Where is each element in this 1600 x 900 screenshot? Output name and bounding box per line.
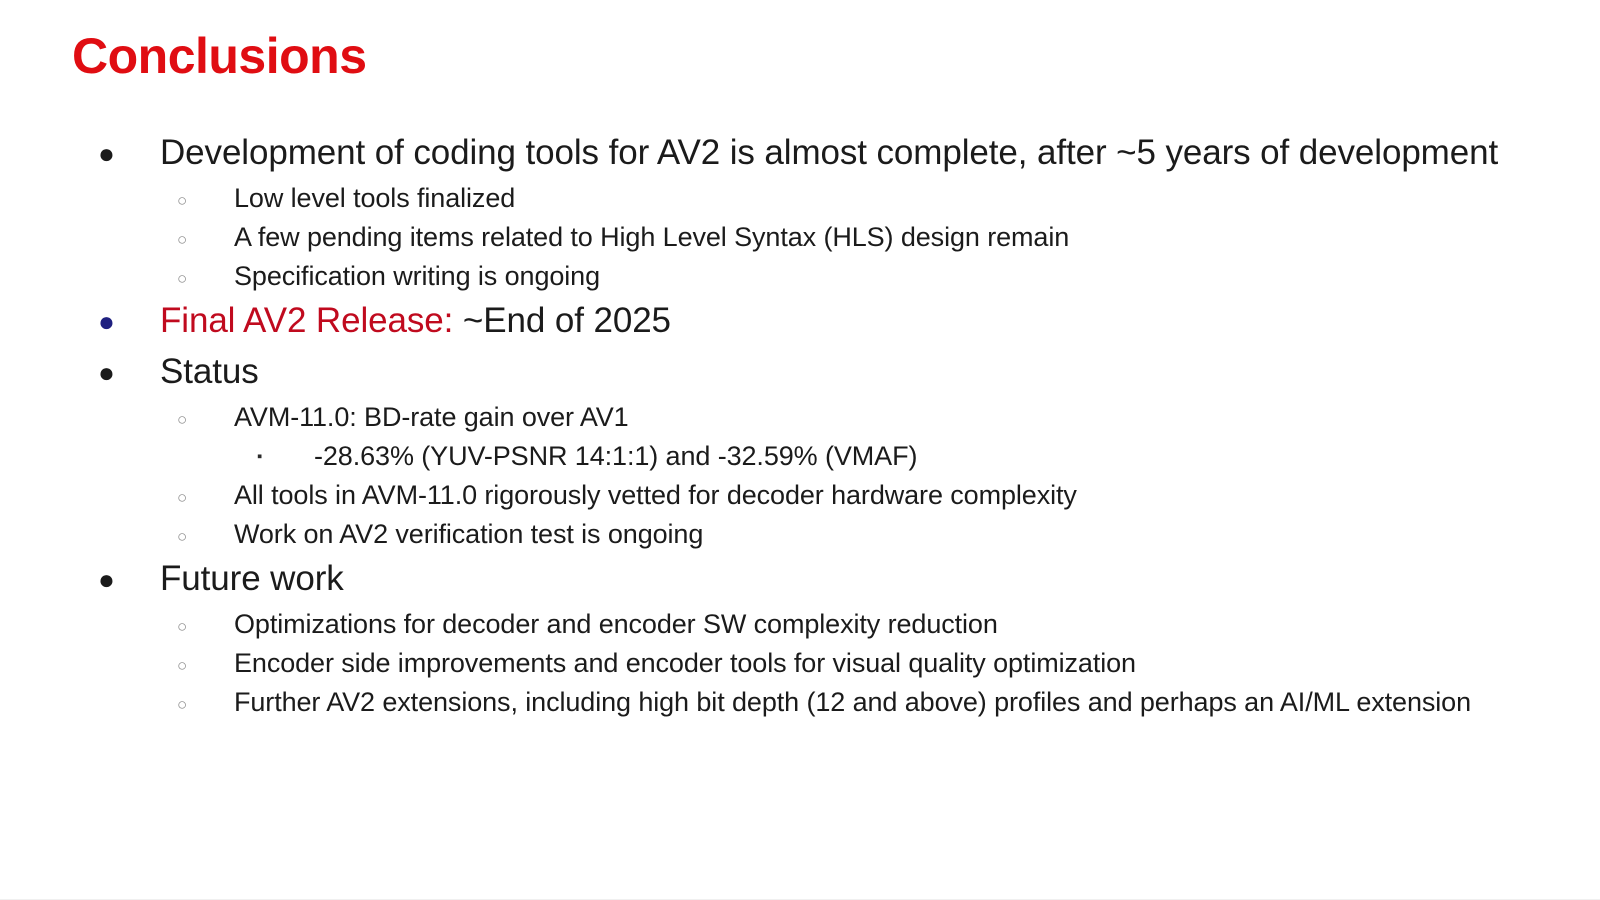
bullet-marker-circle-icon: ○ [177, 515, 234, 545]
bullet-marker-circle-icon: ○ [177, 605, 234, 635]
bullet-marker-circle-icon: ○ [177, 644, 234, 674]
bullet-text-final-release: Final AV2 Release: ~End of 2025 [160, 296, 1532, 346]
bullet-text: Further AV2 extensions, including high b… [234, 683, 1532, 722]
slide-canvas: Conclusions ● Development of coding tool… [0, 0, 1600, 900]
bullet-text-highlight: Final AV2 Release: [160, 301, 453, 340]
page-title: Conclusions [72, 28, 367, 84]
bullet-text: Optimizations for decoder and encoder SW… [234, 605, 1532, 644]
bullet-text-bdrate: -28.63% (YUV-PSNR 14:1:1) and -32.59% (V… [314, 437, 1532, 476]
bullet-item-level3: ▪ -28.63% (YUV-PSNR 14:1:1) and -32.59% … [72, 437, 1532, 476]
bullet-text: Future work [160, 554, 1532, 604]
bullet-item-level2: ○ Optimizations for decoder and encoder … [72, 605, 1532, 644]
bullet-marker-square-icon: ▪ [257, 437, 314, 464]
bullet-text: All tools in AVM-11.0 rigorously vetted … [234, 476, 1532, 515]
bullet-marker-disc-navy-icon: ● [98, 296, 160, 336]
bullet-item-level2: ○ A few pending items related to High Le… [72, 218, 1532, 257]
bullet-marker-circle-icon: ○ [177, 257, 234, 287]
bullet-marker-disc-icon: ● [98, 554, 160, 594]
bullet-marker-circle-icon: ○ [177, 398, 234, 428]
bullet-item-level1: ● Development of coding tools for AV2 is… [72, 128, 1532, 178]
bullet-item-final-release: ● Final AV2 Release: ~End of 2025 [72, 296, 1532, 346]
bullet-item-level2: ○ Specification writing is ongoing [72, 257, 1532, 296]
bullet-marker-circle-icon: ○ [177, 179, 234, 209]
bullet-marker-disc-icon: ● [98, 347, 160, 387]
bullet-marker-circle-icon: ○ [177, 683, 234, 713]
bullet-text: Work on AV2 verification test is ongoing [234, 515, 1532, 554]
bullet-item-level2: ○ Further AV2 extensions, including high… [72, 683, 1532, 722]
bullet-item-level1: ● Future work [72, 554, 1532, 604]
bullet-text: A few pending items related to High Leve… [234, 218, 1532, 257]
bullet-text-remainder: ~End of 2025 [453, 301, 671, 340]
bullet-item-level2: ○ Encoder side improvements and encoder … [72, 644, 1532, 683]
bullet-marker-disc-icon: ● [98, 128, 160, 168]
bullet-text: Encoder side improvements and encoder to… [234, 644, 1532, 683]
bullet-text: Status [160, 347, 1532, 397]
bullet-text: Specification writing is ongoing [234, 257, 1532, 296]
bullet-text: AVM-11.0: BD-rate gain over AV1 [234, 398, 1532, 437]
bullet-marker-circle-icon: ○ [177, 476, 234, 506]
bullet-item-level2: ○ Low level tools finalized [72, 179, 1532, 218]
bullet-item-level1: ● Status [72, 347, 1532, 397]
bullet-marker-circle-icon: ○ [177, 218, 234, 248]
bullet-text: Low level tools finalized [234, 179, 1532, 218]
bullet-text: Development of coding tools for AV2 is a… [160, 128, 1532, 178]
slide-body-bullet-list: ● Development of coding tools for AV2 is… [72, 128, 1532, 722]
bullet-item-level2: ○ AVM-11.0: BD-rate gain over AV1 [72, 398, 1532, 437]
bullet-item-level2: ○ Work on AV2 verification test is ongoi… [72, 515, 1532, 554]
bullet-item-level2: ○ All tools in AVM-11.0 rigorously vette… [72, 476, 1532, 515]
